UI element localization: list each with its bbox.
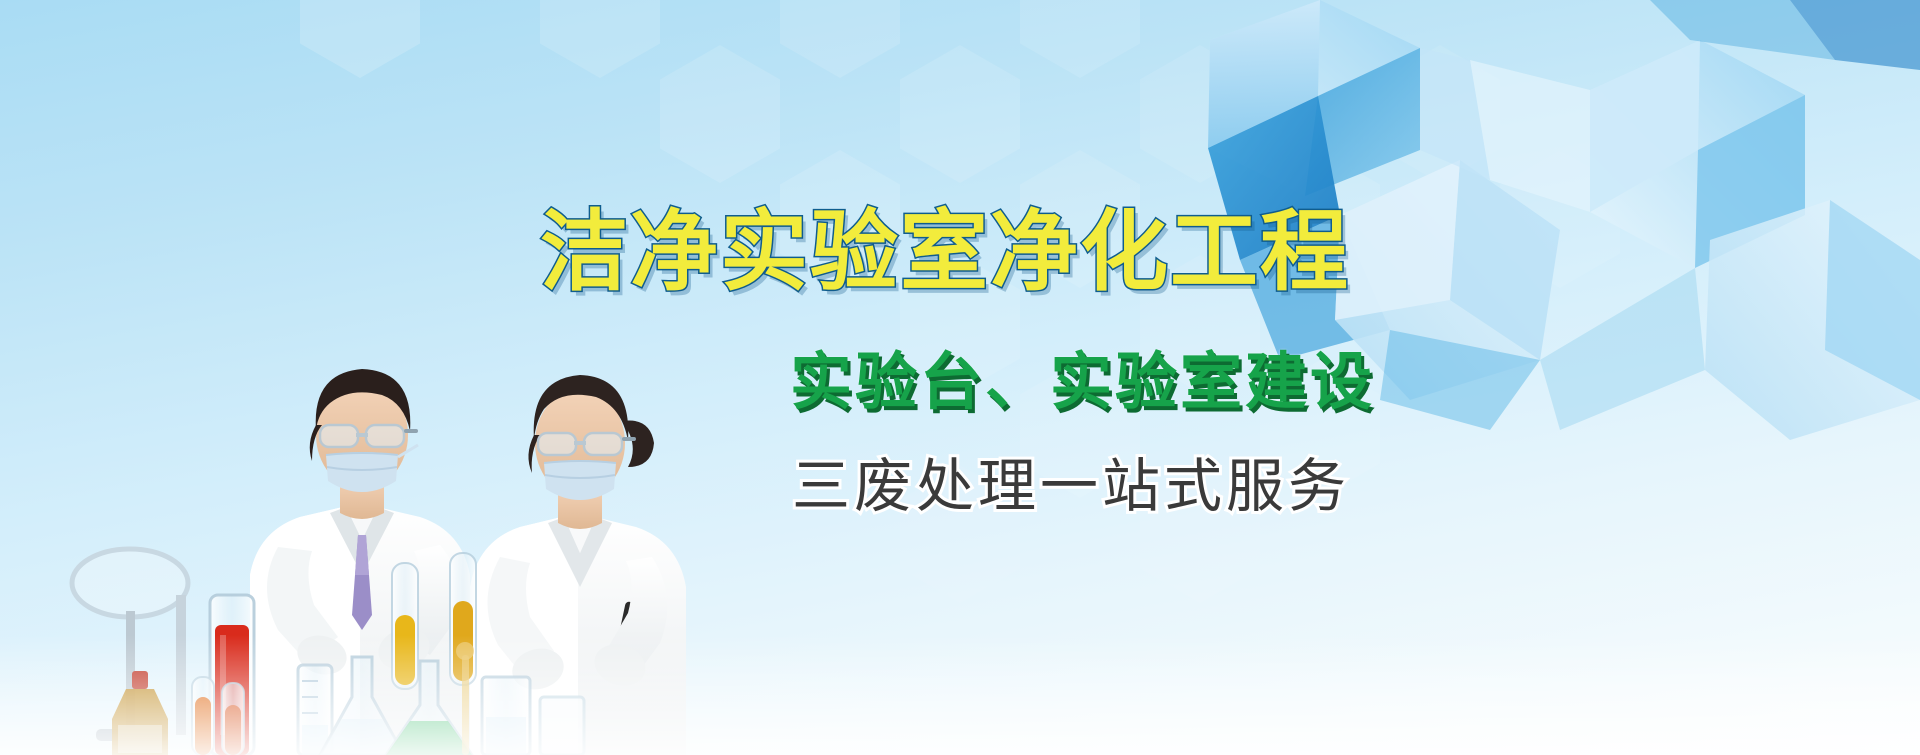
- safety-glasses: [538, 433, 636, 455]
- hair-bun: [622, 420, 654, 467]
- hexagon-shape: [780, 0, 900, 78]
- face-mask: [544, 460, 616, 500]
- safety-glasses: [320, 425, 418, 447]
- promo-banner: 洁净实验室净化工程 实验台、实验室建设 三废处理一站式服务: [0, 0, 1920, 755]
- hexagon-shape: [780, 150, 900, 288]
- square-container: [540, 697, 584, 755]
- laboratory-scene: [0, 325, 980, 755]
- hexagon-shape: [300, 0, 420, 78]
- face-mask: [326, 452, 398, 492]
- crystal-graphic: [1090, 0, 1920, 560]
- liquid-yellow: [395, 615, 415, 685]
- hexagon-shape: [660, 45, 780, 183]
- amber-bottle: [112, 671, 168, 755]
- tall-beaker: [482, 677, 530, 755]
- hexagon-shape: [540, 0, 660, 78]
- hexagon-shape: [900, 45, 1020, 183]
